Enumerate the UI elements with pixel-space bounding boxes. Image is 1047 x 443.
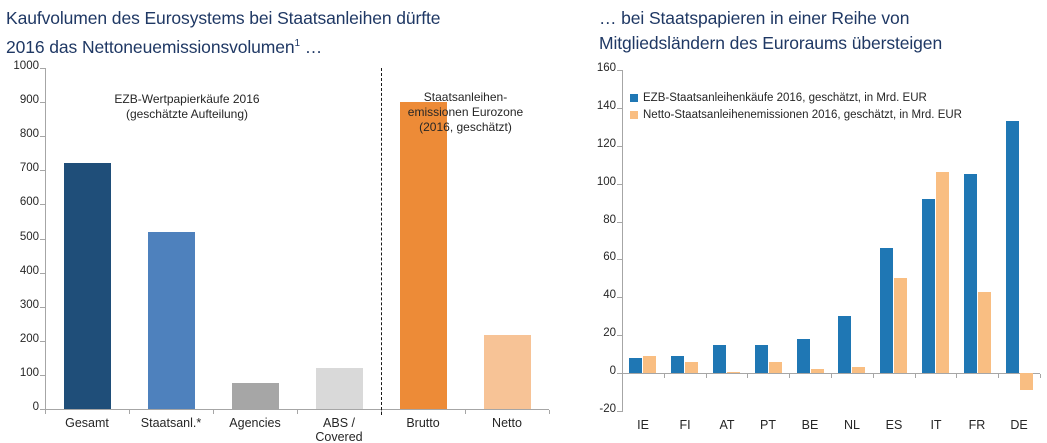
- right-bar-BE-series1: [811, 369, 824, 373]
- legend-swatch-icon-0: [630, 94, 638, 102]
- left-y-tick-label-0: 0: [1, 401, 39, 413]
- left-bar-2: [232, 383, 279, 409]
- slide-root: Kaufvolumen des Eurosystems bei Staatsan…: [0, 0, 1047, 443]
- right-y-tick-label-1: 0: [578, 365, 616, 377]
- legend-item-1: Netto-Staatsanleihenemissionen 2016, ges…: [630, 106, 962, 123]
- right-bar-IT-series0: [922, 199, 935, 373]
- right-x-tick-label-5: NL: [831, 418, 873, 432]
- right-bar-ES-series1: [894, 278, 907, 373]
- left-y-tick-label-1: 100: [1, 367, 39, 379]
- left-x-tick-label-1: Staatsanl.*: [129, 416, 213, 430]
- right-x-tick-1: [664, 374, 665, 378]
- left-x-tick-3: [297, 410, 298, 414]
- right-x-tick-5: [831, 374, 832, 378]
- left-x-tick-2: [213, 410, 214, 414]
- left-y-tick-7: [40, 170, 45, 171]
- left-annotation-issuance: Staatsanleihen- emissionen Eurozone (201…: [378, 90, 553, 135]
- legend-item-0: EZB-Staatsanleihenkäufe 2016, geschätzt,…: [630, 89, 962, 106]
- left-y-tick-10: [40, 68, 45, 69]
- right-y-tick-label-3: 40: [578, 289, 616, 301]
- left-bar-0: [64, 163, 111, 409]
- left-x-tick-label-3: ABS / Covered: [297, 416, 381, 443]
- left-y-tick-label-3: 300: [1, 299, 39, 311]
- right-y-tick-label-5: 80: [578, 214, 616, 226]
- right-chart: -20020406080100120140160IEFIATPTBENLESIT…: [566, 0, 1047, 443]
- right-bar-FR-series0: [964, 174, 977, 373]
- left-y-tick-5: [40, 239, 45, 240]
- left-y-tick-2: [40, 341, 45, 342]
- right-y-axis: [622, 70, 623, 412]
- right-x-tick-2: [706, 374, 707, 378]
- left-y-tick-label-8: 800: [1, 128, 39, 140]
- left-bar-3: [316, 368, 363, 409]
- right-x-tick-8: [956, 374, 957, 378]
- left-x-tick-label-4: Brutto: [381, 416, 465, 430]
- right-bar-FR-series1: [978, 292, 991, 373]
- right-y-tick-7: [617, 146, 622, 147]
- left-panel: Kaufvolumen des Eurosystems bei Staatsan…: [0, 0, 566, 443]
- right-chart-legend: EZB-Staatsanleihenkäufe 2016, geschätzt,…: [630, 89, 962, 123]
- left-x-tick-label-0: Gesamt: [45, 416, 129, 430]
- legend-label-0: EZB-Staatsanleihenkäufe 2016, geschätzt,…: [643, 92, 927, 104]
- right-x-tick-label-6: ES: [873, 418, 915, 432]
- right-y-tick-label-6: 100: [578, 176, 616, 188]
- right-bar-FI-series1: [685, 362, 698, 373]
- right-x-tick-6: [873, 374, 874, 378]
- right-bar-IT-series1: [936, 172, 949, 373]
- right-y-tick-8: [617, 108, 622, 109]
- right-y-tick-label-8: 140: [578, 100, 616, 112]
- right-x-tick-label-1: FI: [664, 418, 706, 432]
- right-x-tick-label-4: BE: [789, 418, 831, 432]
- right-bar-AT-series1: [727, 372, 740, 373]
- left-x-tick-1: [129, 410, 130, 414]
- right-x-tick-end: [1040, 374, 1041, 378]
- right-y-tick-3: [617, 297, 622, 298]
- right-y-tick-9: [617, 70, 622, 71]
- right-panel: … bei Staatspapieren in einer Reihe von …: [566, 0, 1047, 443]
- right-y-tick-label-7: 120: [578, 138, 616, 150]
- right-x-tick-label-2: AT: [706, 418, 748, 432]
- left-x-tick-0: [45, 410, 46, 414]
- right-bar-PT-series0: [755, 345, 768, 373]
- right-bar-NL-series1: [852, 367, 865, 373]
- right-y-tick-5: [617, 222, 622, 223]
- right-bar-DE-series0: [1006, 121, 1019, 373]
- right-bar-BE-series0: [797, 339, 810, 373]
- left-y-tick-label-2: 200: [1, 333, 39, 345]
- right-bar-NL-series0: [838, 316, 851, 373]
- right-x-tick-3: [747, 374, 748, 378]
- left-bar-1: [148, 232, 195, 409]
- right-y-tick-label-2: 20: [578, 327, 616, 339]
- legend-label-1: Netto-Staatsanleihenemissionen 2016, ges…: [643, 109, 962, 121]
- right-bar-IE-series1: [643, 356, 656, 373]
- right-bar-IE-series0: [629, 358, 642, 373]
- right-x-tick-9: [998, 374, 999, 378]
- right-y-tick-label-4: 60: [578, 251, 616, 263]
- left-x-tick-label-5: Netto: [465, 416, 549, 430]
- right-bar-AT-series0: [713, 345, 726, 373]
- left-annotation-purchases: EZB-Wertpapierkäufe 2016 (geschätzte Auf…: [72, 92, 302, 122]
- left-y-tick-label-7: 700: [1, 162, 39, 174]
- right-y-tick-4: [617, 259, 622, 260]
- right-x-tick-label-0: IE: [622, 418, 664, 432]
- left-y-tick-label-5: 500: [1, 231, 39, 243]
- left-bar-4: [400, 102, 447, 409]
- right-x-tick-4: [789, 374, 790, 378]
- right-y-tick-label-9: 160: [578, 62, 616, 74]
- right-y-tick-label-0: -20: [578, 403, 616, 415]
- right-bar-FI-series0: [671, 356, 684, 373]
- left-x-tick-end: [549, 410, 550, 414]
- left-y-tick-1: [40, 375, 45, 376]
- legend-swatch-icon-1: [630, 111, 638, 119]
- right-y-tick-6: [617, 184, 622, 185]
- left-x-tick-5: [465, 410, 466, 414]
- left-y-tick-label-6: 600: [1, 196, 39, 208]
- right-bar-ES-series0: [880, 248, 893, 373]
- left-y-tick-label-9: 900: [1, 94, 39, 106]
- left-y-tick-label-4: 400: [1, 265, 39, 277]
- left-x-tick-label-2: Agencies: [213, 416, 297, 430]
- right-bar-DE-series1: [1020, 373, 1033, 390]
- left-chart: 01002003004005006007008009001000GesamtSt…: [0, 0, 566, 443]
- right-x-tick-label-3: PT: [747, 418, 789, 432]
- left-y-tick-3: [40, 307, 45, 308]
- right-x-tick-7: [915, 374, 916, 378]
- right-x-tick-label-7: IT: [915, 418, 957, 432]
- left-y-tick-4: [40, 273, 45, 274]
- right-x-tick-label-8: FR: [956, 418, 998, 432]
- left-y-axis: [45, 68, 46, 410]
- right-y-tick-2: [617, 335, 622, 336]
- left-y-tick-6: [40, 204, 45, 205]
- left-y-tick-9: [40, 102, 45, 103]
- right-y-tick-0: [617, 411, 622, 412]
- right-x-tick-0: [622, 374, 623, 378]
- left-y-tick-label-10: 1000: [1, 60, 39, 72]
- right-bar-PT-series1: [769, 362, 782, 373]
- right-x-tick-label-9: DE: [998, 418, 1040, 432]
- left-y-tick-8: [40, 136, 45, 137]
- left-bar-5: [484, 335, 531, 409]
